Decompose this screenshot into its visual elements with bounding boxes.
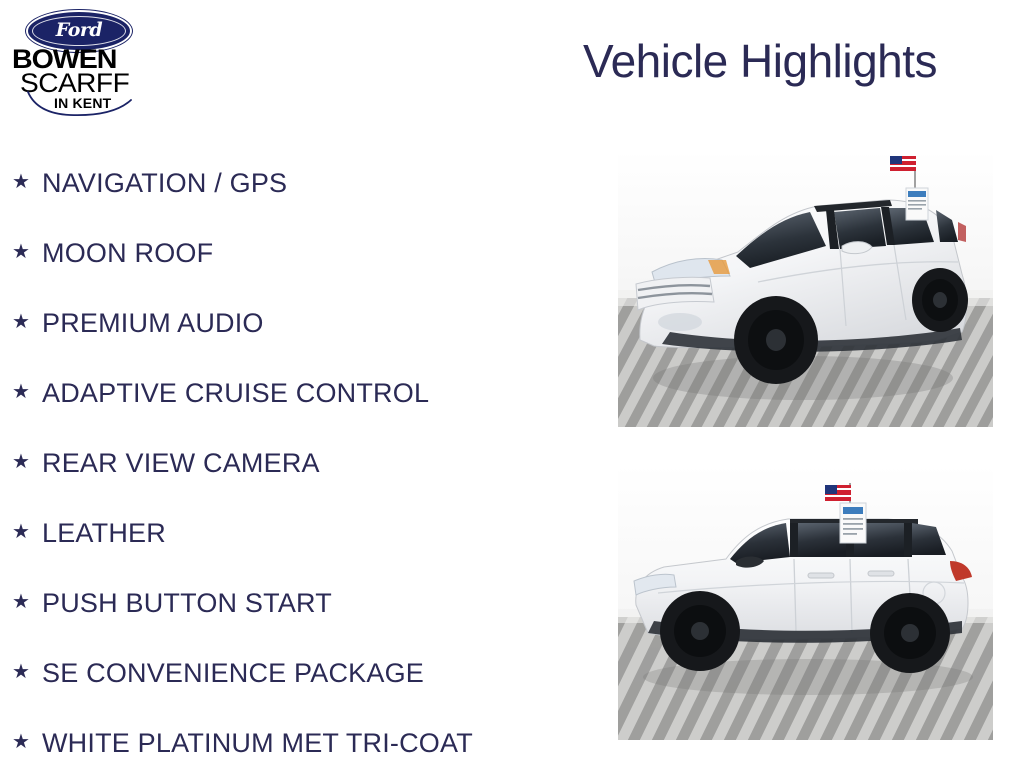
- feature-label: ADAPTIVE CRUISE CONTROL: [42, 380, 429, 407]
- star-icon: ★: [12, 452, 42, 472]
- list-item: ★ PREMIUM AUDIO: [0, 288, 600, 358]
- list-item: ★ SE CONVENIENCE PACKAGE: [0, 638, 600, 708]
- ford-wordmark: Ford: [56, 21, 102, 40]
- star-icon: ★: [12, 662, 42, 682]
- vehicle-photo-front[interactable]: [618, 150, 993, 427]
- feature-label: PREMIUM AUDIO: [42, 310, 264, 337]
- list-item: ★ ADAPTIVE CRUISE CONTROL: [0, 358, 600, 428]
- vehicle-side-profile-image: [618, 465, 993, 740]
- list-item: ★ MOON ROOF: [0, 218, 600, 288]
- list-item: ★ NAVIGATION / GPS: [0, 148, 600, 218]
- star-icon: ★: [12, 242, 42, 262]
- feature-label: SE CONVENIENCE PACKAGE: [42, 660, 424, 687]
- list-item: ★ PUSH BUTTON START: [0, 568, 600, 638]
- list-item: ★ REAR VIEW CAMERA: [0, 428, 600, 498]
- vehicle-photo-side[interactable]: [618, 465, 993, 740]
- star-icon: ★: [12, 732, 42, 752]
- page-title: Vehicle Highlights: [510, 38, 1010, 84]
- feature-label: NAVIGATION / GPS: [42, 170, 287, 197]
- ford-oval-inner: Ford: [32, 16, 126, 46]
- feature-label: MOON ROOF: [42, 240, 213, 267]
- feature-label: WHITE PLATINUM MET TRI-COAT: [42, 730, 473, 757]
- star-icon: ★: [12, 382, 42, 402]
- feature-label: LEATHER: [42, 520, 166, 547]
- dealer-logo: Ford BOWEN SCARFF IN KENT: [8, 4, 148, 120]
- star-icon: ★: [12, 522, 42, 542]
- vehicle-front-three-quarter-image: [618, 150, 993, 427]
- vehicle-highlights-list: ★ NAVIGATION / GPS ★ MOON ROOF ★ PREMIUM…: [0, 148, 600, 778]
- feature-label: REAR VIEW CAMERA: [42, 450, 320, 477]
- dealer-tagline: IN KENT: [54, 96, 111, 110]
- star-icon: ★: [12, 592, 42, 612]
- star-icon: ★: [12, 172, 42, 192]
- list-item: ★ LEATHER: [0, 498, 600, 568]
- feature-label: PUSH BUTTON START: [42, 590, 332, 617]
- star-icon: ★: [12, 312, 42, 332]
